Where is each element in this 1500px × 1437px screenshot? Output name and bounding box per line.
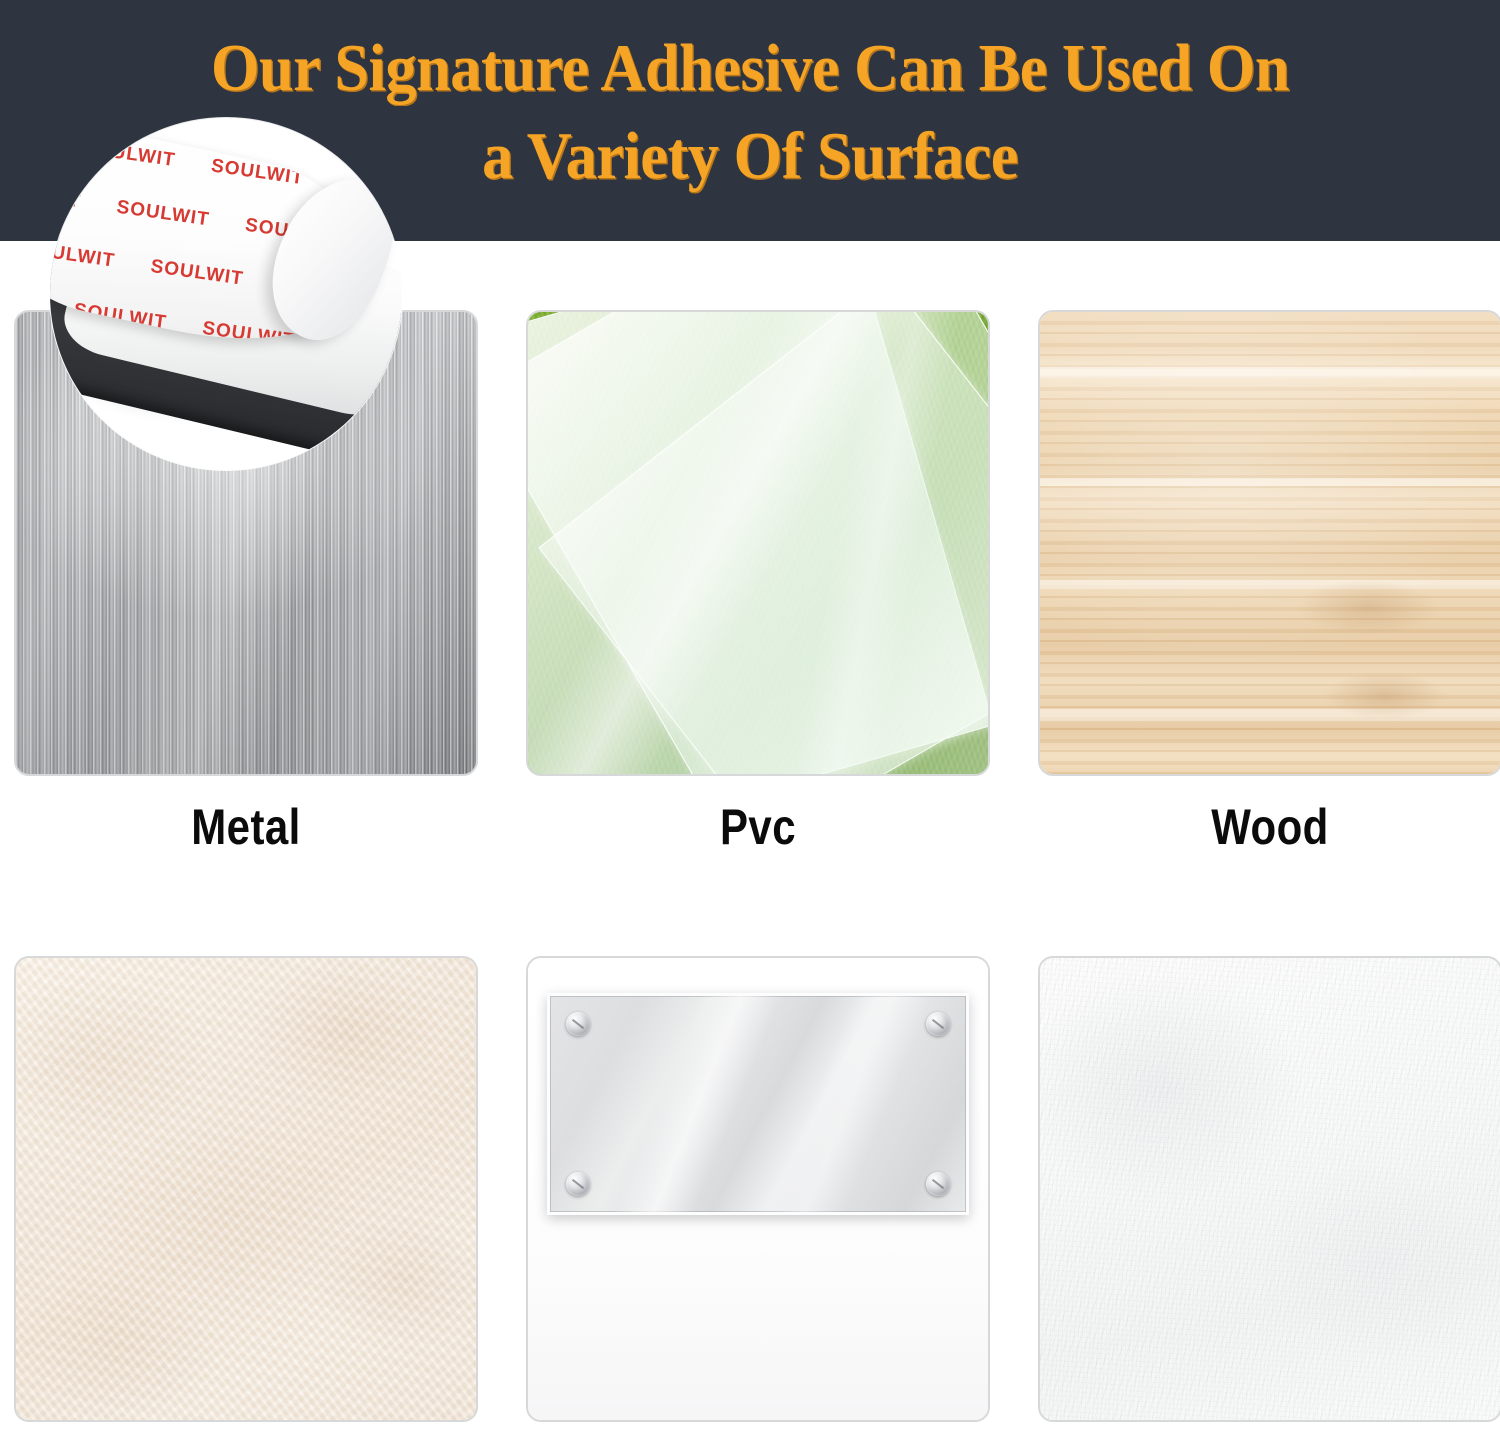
swatch-row-2: Marble Glass xyxy=(14,956,1486,1437)
adhesive-pad-closeup-inset: SOULWIT SOULWIT SOULWIT SOULWIT SOULWIT … xyxy=(50,118,402,470)
plaster-grain-overlay xyxy=(1040,958,1500,1420)
glass-panel xyxy=(547,993,968,1215)
surface-cell-wood[interactable]: Wood xyxy=(1038,310,1500,854)
surface-label-metal: Metal xyxy=(51,800,441,854)
surface-label-wood: Wood xyxy=(1075,800,1465,854)
marble-vein-overlay xyxy=(16,958,476,1420)
infographic-canvas: Our Signature Adhesive Can Be Used On a … xyxy=(0,0,1500,1437)
surface-swatch-grid: Metal Pvc xyxy=(14,310,1486,1437)
pvc-gloss-overlay xyxy=(528,312,988,774)
swatch-tile-wood xyxy=(1038,310,1500,776)
swatch-tile-marble xyxy=(14,956,478,1422)
standoff-screw-icon xyxy=(926,1012,950,1036)
surface-cell-metope[interactable]: Metope xyxy=(1038,956,1500,1437)
swatch-tile-metope xyxy=(1038,956,1500,1422)
surface-cell-glass[interactable]: Glass xyxy=(526,956,990,1437)
headline-line-1: Our Signature Adhesive Can Be Used On xyxy=(53,26,1448,110)
standoff-screw-icon xyxy=(926,1172,950,1196)
swatch-tile-glass xyxy=(526,956,990,1422)
surface-cell-pvc[interactable]: Pvc xyxy=(526,310,990,854)
surface-label-pvc: Pvc xyxy=(563,800,953,854)
swatch-tile-pvc xyxy=(526,310,990,776)
surface-cell-marble[interactable]: Marble xyxy=(14,956,478,1437)
wood-sheen-overlay xyxy=(1040,312,1500,774)
glass-reflection-overlay xyxy=(550,996,965,1212)
